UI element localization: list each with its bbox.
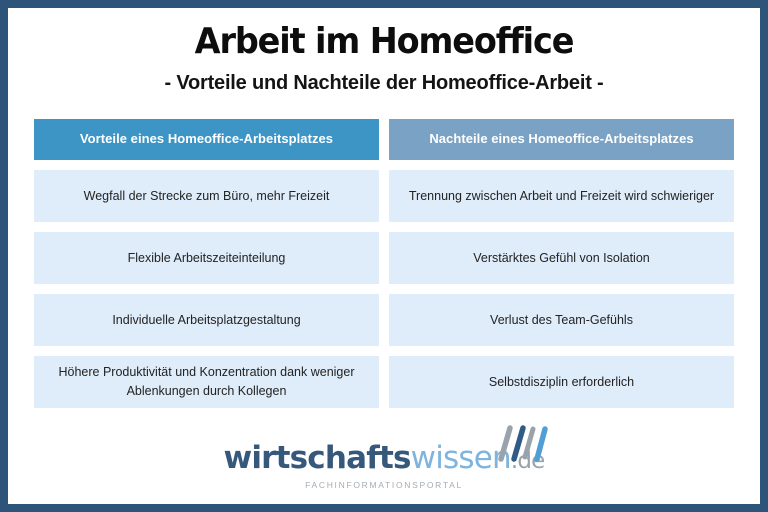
column-header-con: Nachteile eines Homeoffice-Arbeitsplatze… [389,119,734,160]
table-cell: Wegfall der Strecke zum Büro, mehr Freiz… [34,170,379,222]
header: Arbeit im Homeoffice - Vorteile und Nach… [8,8,760,95]
footer: wirtschaftswissen.de FACHINFORMATIONSPOR… [8,437,760,504]
logo-slashes-icon [491,423,549,463]
page-title: Arbeit im Homeoffice [34,22,733,62]
table-cell: Selbstdisziplin erforderlich [389,356,734,408]
table-cell: Individuelle Arbeitsplatzgestaltung [34,294,379,346]
column-con: Nachteile eines Homeoffice-Arbeitsplatze… [389,119,734,408]
logo-tagline: FACHINFORMATIONSPORTAL [223,480,544,490]
brand-logo: wirtschaftswissen.de FACHINFORMATIONSPOR… [223,437,544,490]
table-cell: Höhere Produktivität und Konzentration d… [34,356,379,408]
column-header-pro: Vorteile eines Homeoffice-Arbeitsplatzes [34,119,379,160]
page-subtitle: - Vorteile und Nachteile der Homeoffice-… [8,71,760,95]
comparison-table: Vorteile eines Homeoffice-Arbeitsplatzes… [34,119,734,408]
table-cell: Verstärktes Gefühl von Isolation [389,232,734,284]
table-cell: Flexible Arbeitszeiteinteilung [34,232,379,284]
column-pro: Vorteile eines Homeoffice-Arbeitsplatzes… [34,119,379,408]
logo-text-wirtschafts: wirtschafts [223,440,410,476]
table-cell: Trennung zwischen Arbeit und Freizeit wi… [389,170,734,222]
infographic-page: Arbeit im Homeoffice - Vorteile und Nach… [0,0,768,512]
table-cell: Verlust des Team-Gefühls [389,294,734,346]
